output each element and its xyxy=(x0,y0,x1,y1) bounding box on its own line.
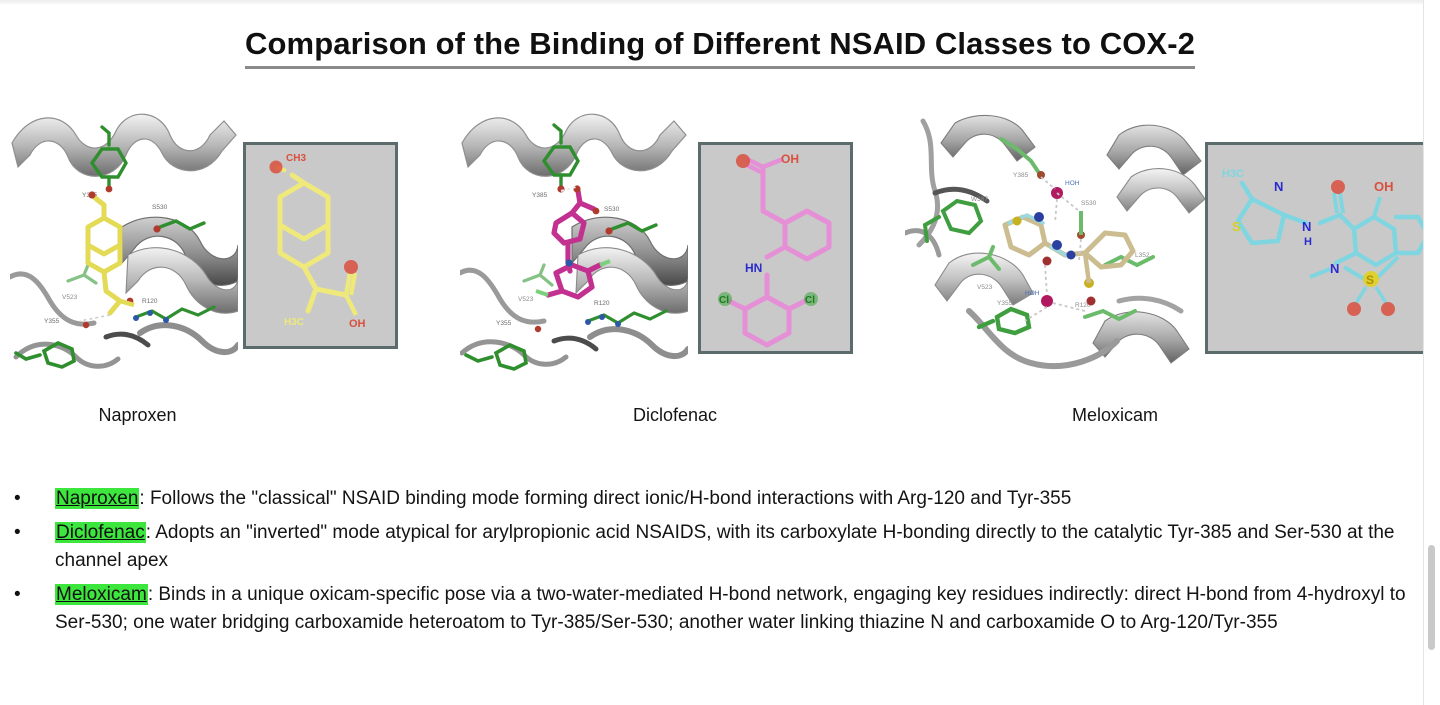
svg-text:CH3: CH3 xyxy=(286,153,306,164)
svg-text:V523: V523 xyxy=(62,294,78,301)
svg-text:N: N xyxy=(1330,261,1339,276)
svg-text:HN: HN xyxy=(745,261,762,275)
structure-2d-diclofenac: OH HN Cl Cl xyxy=(698,142,853,354)
svg-text:OH: OH xyxy=(781,152,799,166)
bullet-text: Naproxen: Follows the "classical" NSAID … xyxy=(55,485,1432,513)
structure-2d-naproxen: CH3 OH H3C xyxy=(243,142,398,349)
svg-text:Y385: Y385 xyxy=(532,192,548,199)
bullet-text: Diclofenac: Adopts an "inverted" mode at… xyxy=(55,519,1432,575)
top-edge-strip xyxy=(0,0,1440,5)
svg-text:HOH: HOH xyxy=(1065,180,1080,187)
highlighted-term-naproxen: Naproxen xyxy=(55,488,139,509)
svg-text:Cl: Cl xyxy=(805,295,815,306)
svg-text:OH: OH xyxy=(1374,179,1394,194)
bullet-marker: • xyxy=(0,519,55,547)
svg-text:S530: S530 xyxy=(1081,200,1097,207)
svg-text:S530: S530 xyxy=(604,206,620,213)
list-item: • Meloxicam: Binds in a unique oxicam-sp… xyxy=(0,581,1432,637)
bullet-list: • Naproxen: Follows the "classical" NSAI… xyxy=(0,485,1432,643)
page-title: Comparison of the Binding of Different N… xyxy=(245,26,1195,69)
bullet-marker: • xyxy=(0,485,55,513)
svg-text:Y355: Y355 xyxy=(496,320,512,327)
figure-caption-meloxicam: Meloxicam xyxy=(905,405,1325,426)
svg-text:Y385: Y385 xyxy=(1013,172,1029,179)
protein-pocket-image-diclofenac: Y385 S530 V523 xyxy=(460,105,688,377)
figure-caption-diclofenac: Diclofenac xyxy=(460,405,890,426)
svg-text:S530: S530 xyxy=(152,204,168,211)
list-item: • Naproxen: Follows the "classical" NSAI… xyxy=(0,485,1432,513)
list-item: • Diclofenac: Adopts an "inverted" mode … xyxy=(0,519,1432,575)
highlighted-term-diclofenac: Diclofenac xyxy=(55,522,146,543)
svg-text:Y355: Y355 xyxy=(997,300,1013,307)
bullet-text: Meloxicam: Binds in a unique oxicam-spec… xyxy=(55,581,1432,637)
bullet-body: : Binds in a unique oxicam-specific pose… xyxy=(55,584,1406,633)
slide-canvas: Comparison of the Binding of Different N… xyxy=(0,0,1440,705)
svg-text:R120: R120 xyxy=(142,298,158,305)
svg-text:Y355: Y355 xyxy=(44,318,60,325)
svg-text:OH: OH xyxy=(349,318,366,330)
structure-2d-meloxicam: OH N S H3C N H N xyxy=(1205,142,1437,354)
figure-caption-naproxen: Naproxen xyxy=(10,405,265,426)
figure-group-naproxen: Y385 S530 V523 xyxy=(10,105,410,377)
svg-text:L352: L352 xyxy=(1135,252,1150,259)
svg-text:S: S xyxy=(1366,273,1374,287)
highlighted-term-meloxicam: Meloxicam xyxy=(55,584,148,605)
svg-text:H3C: H3C xyxy=(284,317,304,328)
bullet-body: : Adopts an "inverted" mode atypical for… xyxy=(55,522,1395,571)
bullet-body: : Follows the "classical" NSAID binding … xyxy=(139,488,1071,509)
scrollbar-thumb[interactable] xyxy=(1428,545,1435,650)
svg-text:R120: R120 xyxy=(594,300,610,307)
figure-panels: Y385 S530 V523 xyxy=(460,105,860,377)
svg-text:W387: W387 xyxy=(971,196,988,203)
figure-panels: Y385 S530 V523 xyxy=(10,105,410,377)
figure-group-meloxicam: Y385 W387 V523 xyxy=(905,105,1430,377)
page-title-container: Comparison of the Binding of Different N… xyxy=(0,26,1440,69)
protein-pocket-image-naproxen: Y385 S530 V523 xyxy=(10,105,238,377)
svg-text:H: H xyxy=(1304,236,1312,248)
svg-text:HOH: HOH xyxy=(1025,290,1040,297)
protein-pocket-image-meloxicam: Y385 W387 V523 xyxy=(905,105,1205,377)
figure-panels: Y385 W387 V523 xyxy=(905,105,1430,377)
svg-text:S: S xyxy=(1232,219,1241,234)
svg-text:H3C: H3C xyxy=(1222,168,1244,180)
svg-text:Cl: Cl xyxy=(719,295,729,306)
scrollbar-track[interactable] xyxy=(1423,0,1440,705)
svg-text:V523: V523 xyxy=(977,284,993,291)
svg-text:V523: V523 xyxy=(518,296,534,303)
bullet-marker: • xyxy=(0,581,55,609)
figure-group-diclofenac: Y385 S530 V523 xyxy=(460,105,860,377)
svg-text:N: N xyxy=(1274,179,1283,194)
figure-row: Y385 S530 V523 xyxy=(0,105,1440,445)
svg-text:N: N xyxy=(1302,219,1311,234)
